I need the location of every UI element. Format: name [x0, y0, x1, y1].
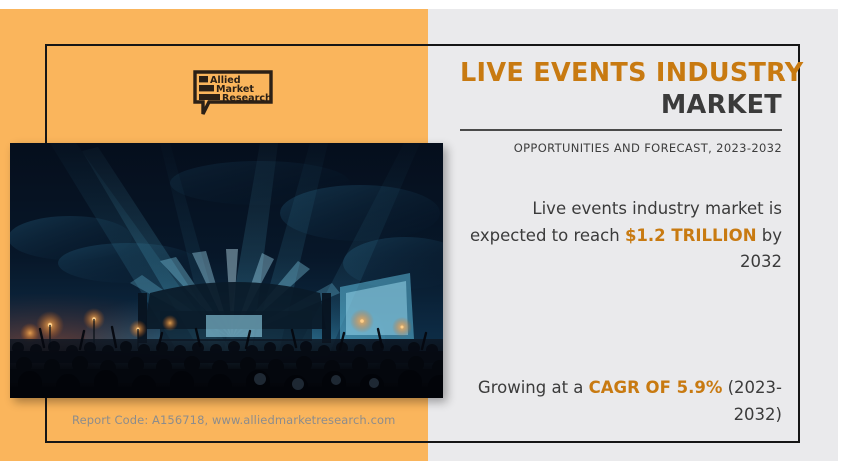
market-size-statement: Live events industry market is expected … [460, 196, 782, 276]
svg-text:Research: Research [222, 93, 272, 104]
cagr-trail: (2023-2032) [722, 378, 782, 424]
forecast-subtitle: OPPORTUNITIES AND FORECAST, 2023-2032 [460, 141, 782, 155]
header-block: LIVE EVENTS INDUSTRY MARKET OPPORTUNITIE… [460, 58, 782, 155]
page-title: LIVE EVENTS INDUSTRY [460, 58, 782, 88]
allied-market-research-logo: Allied Market Research [193, 70, 273, 120]
market-size-value: $1.2 TRILLION [625, 226, 757, 245]
concert-photo [10, 143, 443, 398]
infographic-root: Allied Market Research [0, 0, 847, 470]
cagr-statement: Growing at a CAGR OF 5.9% (2023-2032) [460, 375, 782, 428]
report-code-text: Report Code: A156718, www.alliedmarketre… [72, 413, 395, 427]
page-subtitle-market: MARKET [460, 90, 782, 120]
title-divider [460, 129, 782, 131]
cagr-lead: Growing at a [478, 378, 589, 397]
cagr-value: CAGR OF 5.9% [589, 378, 723, 397]
